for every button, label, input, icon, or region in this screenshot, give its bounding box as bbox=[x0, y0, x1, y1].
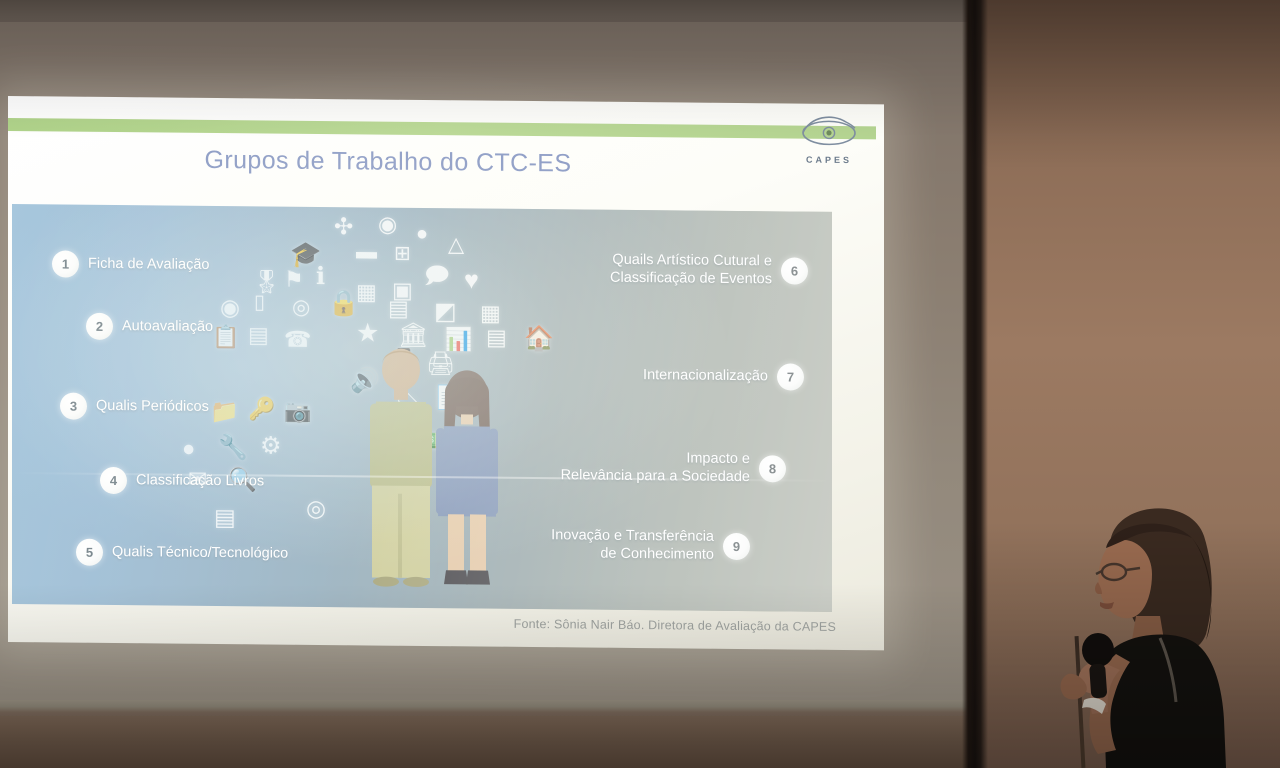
conference-room-photo: CAPES Grupos de Trabalho do CTC-ES 🎓 ✣ ◉… bbox=[0, 0, 1280, 768]
side-wall-lighting bbox=[968, 0, 1280, 768]
wall-lighting bbox=[0, 0, 968, 768]
